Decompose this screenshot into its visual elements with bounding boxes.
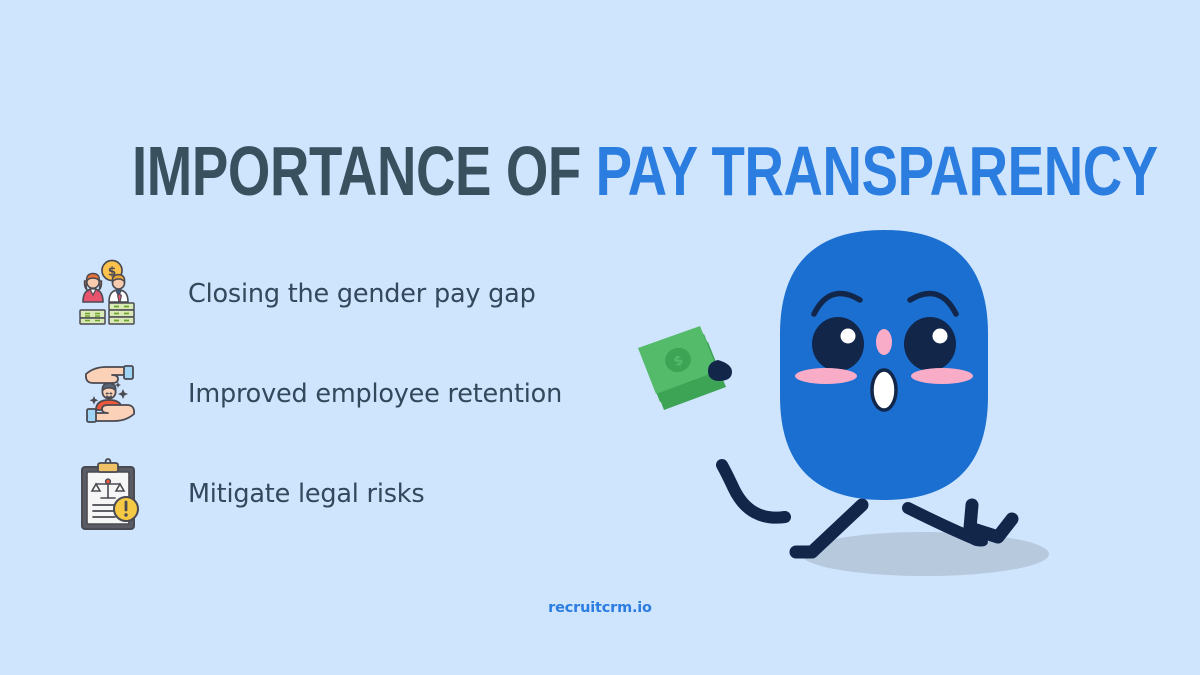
list-item-label: Mitigate legal risks — [188, 479, 424, 509]
gender-pay-gap-icon: $ — [74, 258, 146, 330]
brand-footer: recruitcrm.io — [0, 600, 1200, 616]
mascot-eye-right — [904, 317, 956, 371]
mascot-left-arm — [722, 465, 785, 518]
infographic-canvas: IMPORTANCE OF PAY TRANSPARENCY $ — [0, 0, 1200, 675]
mascot-body-shape — [780, 230, 988, 500]
mascot-eye-left — [812, 317, 864, 371]
page-title: IMPORTANCE OF PAY TRANSPARENCY — [132, 133, 1068, 209]
list-item-label: Closing the gender pay gap — [188, 279, 536, 309]
mascot-nose — [876, 329, 892, 355]
list-item: $ — [74, 258, 674, 330]
mascot-illustration: $ — [630, 222, 1160, 592]
hands-holding-employee-icon — [74, 358, 146, 430]
mascot-shadow — [801, 532, 1049, 576]
list-item: Mitigate legal risks — [74, 458, 674, 530]
mascot-right-leg — [970, 505, 1012, 537]
mascot-eye-highlight-left — [841, 329, 856, 344]
list-item: Improved employee retention — [74, 358, 674, 430]
mascot-cheek-right — [911, 368, 973, 384]
legal-clipboard-warning-icon — [74, 458, 146, 530]
title-part-blue: PAY TRANSPARENCY — [596, 132, 1158, 210]
mascot-mouth — [872, 370, 896, 410]
mascot-left-hand — [708, 360, 732, 381]
list-item-label: Improved employee retention — [188, 379, 562, 409]
mascot-eye-highlight-right — [933, 329, 948, 344]
mascot-cheek-left — [795, 368, 857, 384]
title-part-dark: IMPORTANCE OF — [132, 132, 596, 210]
